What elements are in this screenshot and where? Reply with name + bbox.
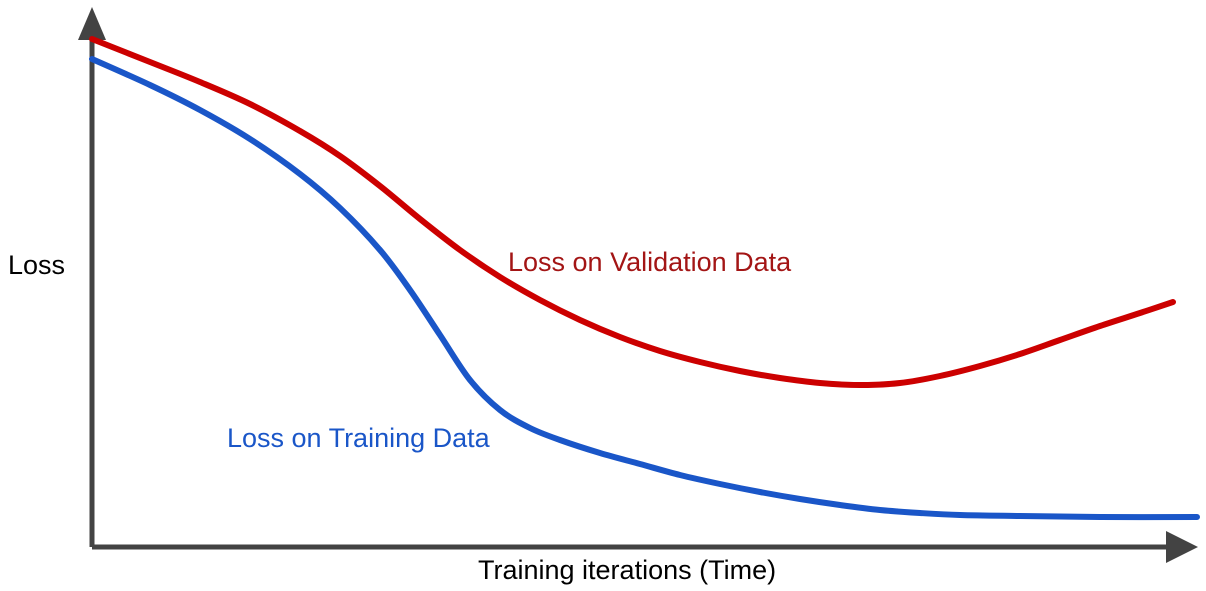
- y-axis-label: Loss: [8, 252, 65, 279]
- validation-loss-curve: [92, 39, 1173, 385]
- validation-series-label: Loss on Validation Data: [508, 249, 791, 276]
- loss-curves-plot: [0, 0, 1206, 591]
- y-axis-arrowhead: [78, 7, 106, 40]
- training-series-label: Loss on Training Data: [227, 425, 490, 452]
- axes-group: [78, 7, 1198, 563]
- chart-canvas: Loss Training iterations (Time) Loss on …: [0, 0, 1206, 591]
- x-axis-arrowhead: [1166, 531, 1198, 563]
- x-axis-label: Training iterations (Time): [478, 557, 776, 584]
